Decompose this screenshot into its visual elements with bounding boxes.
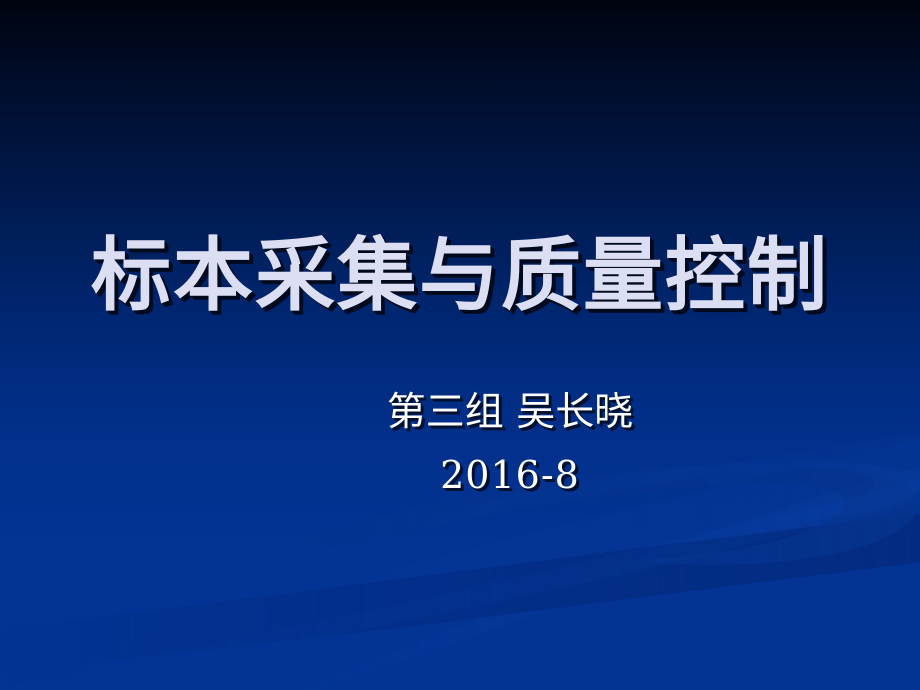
- swoosh-decoration: [0, 0, 920, 690]
- slide-subtitle: 第三组 吴长晓 2016-8: [160, 382, 860, 506]
- subtitle-date: 2016-8: [160, 444, 860, 506]
- subtitle-presenter: 第三组 吴长晓: [160, 382, 860, 444]
- slide-title-text: 标本采集与质量控制: [91, 228, 829, 324]
- presentation-title-slide: 标本采集与质量控制 第三组 吴长晓 2016-8: [0, 0, 920, 690]
- swoosh-band-dark: [0, 512, 920, 672]
- slide-title: 标本采集与质量控制: [0, 228, 920, 324]
